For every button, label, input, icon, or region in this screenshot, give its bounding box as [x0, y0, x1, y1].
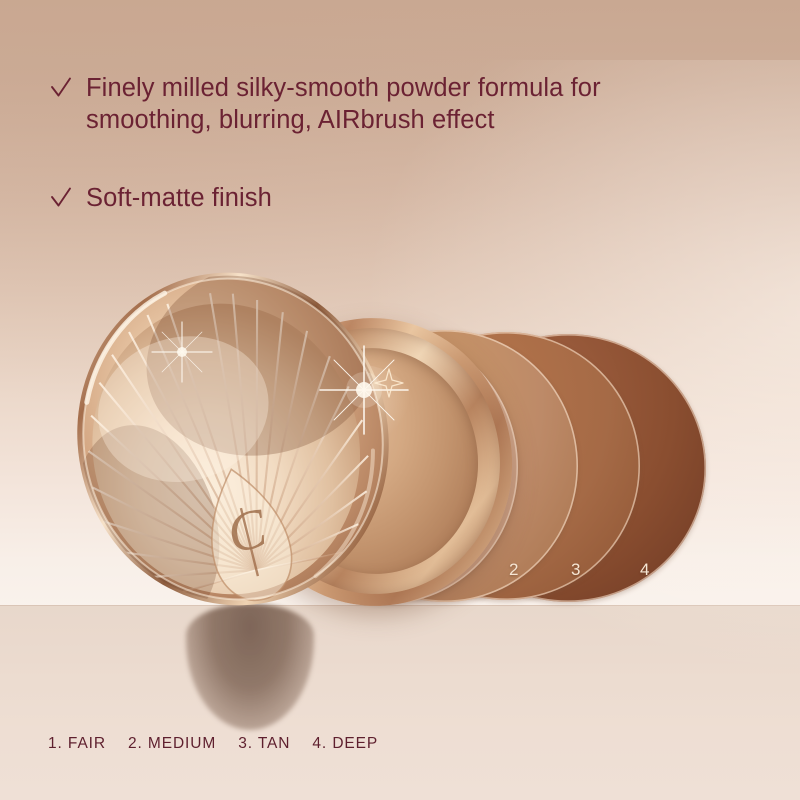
- shade-pan-number-3: 3: [571, 560, 581, 580]
- compact-base-rim: [233, 314, 516, 609]
- legend-item-1: 1. FAIR: [48, 735, 106, 753]
- horizon-line: [0, 605, 800, 606]
- product-marketing-image: Finely milled silky-smooth powder formul…: [0, 0, 800, 800]
- benefit-text: Finely milled silky-smooth powder formul…: [86, 72, 601, 136]
- shade-pan-number-2: 2: [509, 560, 519, 580]
- shade-legend: 1. FAIR 2. MEDIUM 3. TAN 4. DEEP: [48, 735, 378, 753]
- benefit-list: Finely milled silky-smooth powder formul…: [50, 72, 650, 214]
- pan-rim: [254, 330, 518, 604]
- benefit-item: Finely milled silky-smooth powder formul…: [50, 72, 650, 136]
- check-icon: [50, 75, 72, 101]
- shade-pan-number-1: 1: [438, 562, 448, 582]
- sparkle-star-icon: [148, 318, 216, 386]
- shade-pan-4: 4: [430, 334, 706, 602]
- shade-pan-number-4: 4: [640, 560, 650, 580]
- check-icon: [50, 185, 72, 211]
- pan-rim: [372, 332, 640, 600]
- legend-item-4: 4. DEEP: [312, 735, 378, 753]
- ct-monogram-text: C: [221, 497, 273, 566]
- star-emblem-icon: [372, 366, 406, 400]
- compact-base: [219, 302, 528, 621]
- legend-item-2: 2. MEDIUM: [128, 735, 216, 753]
- shade-pan-3: 3: [372, 332, 640, 600]
- benefit-item: Soft-matte finish: [50, 182, 650, 214]
- shade-pan-1: 1: [254, 330, 518, 604]
- compact-powder-pan: [257, 336, 491, 586]
- ct-monogram: C: [194, 460, 301, 609]
- pan-rim: [312, 330, 578, 602]
- legend-item-3: 3. TAN: [238, 735, 290, 753]
- fan-engraving: [53, 263, 392, 608]
- benefit-text: Soft-matte finish: [86, 182, 272, 214]
- compact-lid: C: [38, 238, 427, 639]
- powder-highlight: [279, 357, 418, 462]
- pan-rim: [430, 334, 706, 602]
- table-surface: [0, 605, 800, 800]
- sparkle-star-icon: [316, 342, 412, 438]
- shade-pan-2: 2: [312, 330, 578, 602]
